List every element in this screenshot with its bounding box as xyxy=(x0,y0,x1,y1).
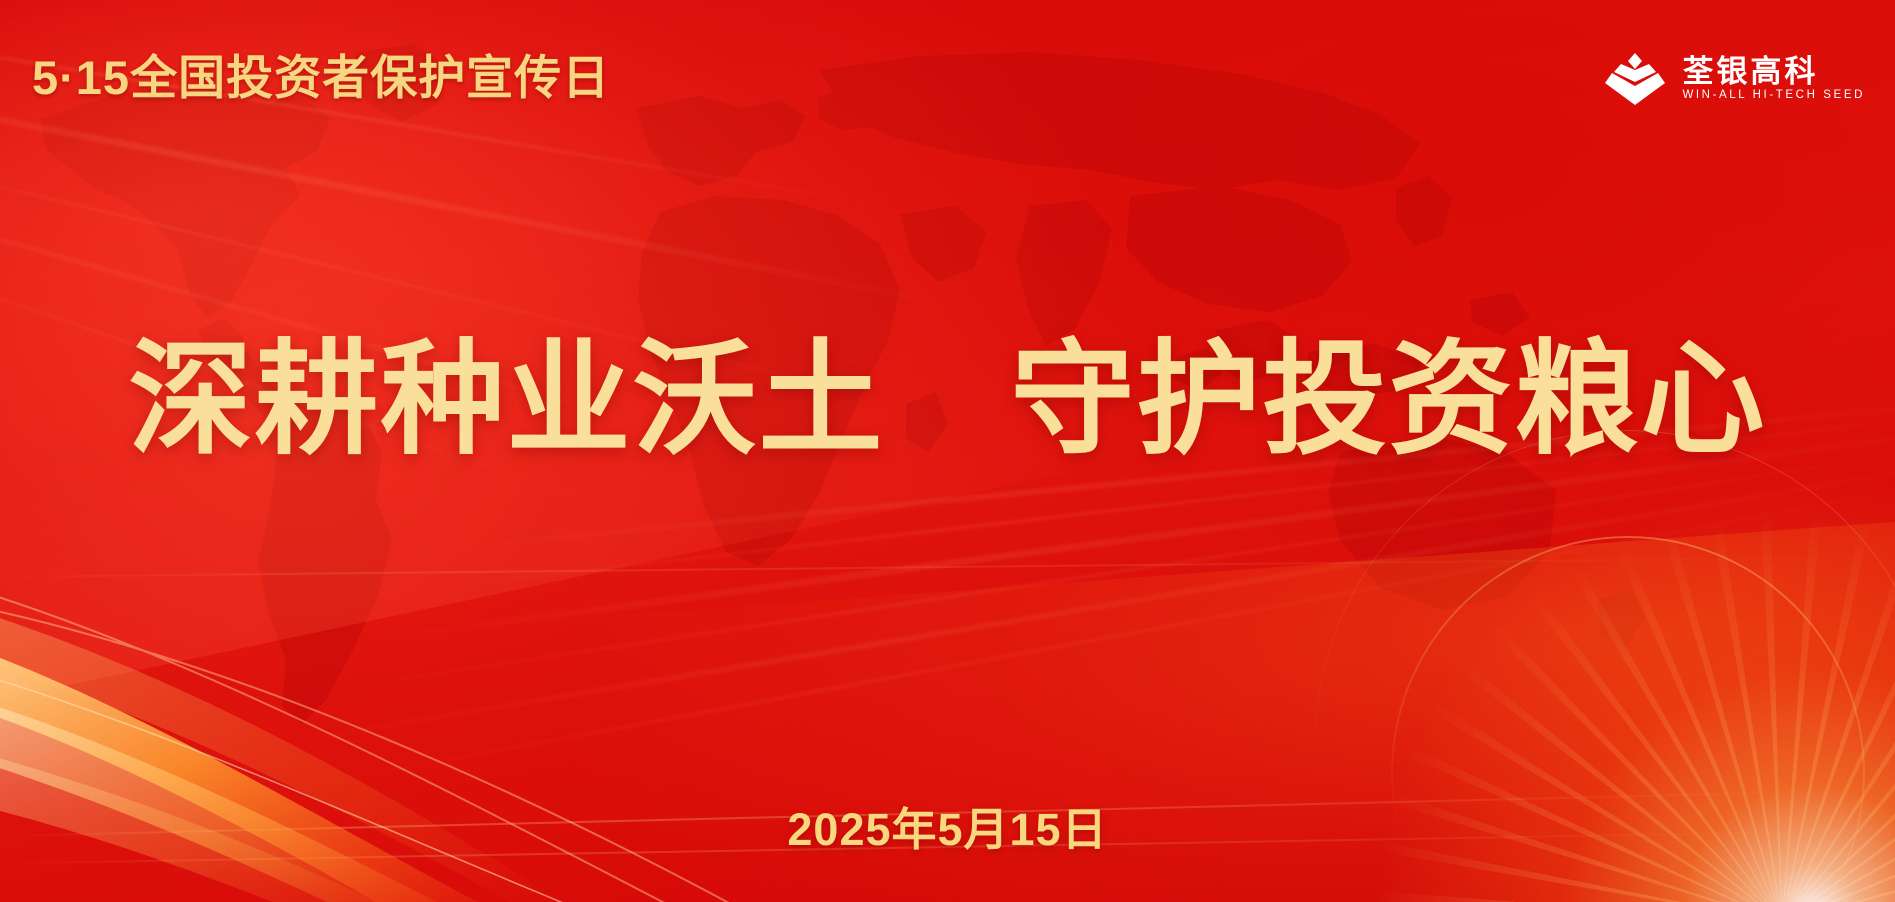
event-date: 2025年5月15日 xyxy=(0,793,1895,858)
logo-wordmark: 荃银高科 WIN-ALL HI-TECH SEED xyxy=(1682,56,1865,102)
company-logo: 荃银高科 WIN-ALL HI-TECH SEED xyxy=(1604,48,1865,110)
logo-company-en: WIN-ALL HI-TECH SEED xyxy=(1682,90,1865,102)
chevron-seed-logo-icon xyxy=(1604,48,1666,110)
main-headline: 深耕种业沃土 守护投资粮心 xyxy=(0,338,1895,462)
investor-protection-banner: 5·15全国投资者保护宣传日 荃银高科 WIN-ALL HI-TECH SEED… xyxy=(0,0,1895,902)
logo-company-cn: 荃银高科 xyxy=(1682,56,1865,87)
campaign-title: 5·15全国投资者保护宣传日 xyxy=(32,54,610,101)
